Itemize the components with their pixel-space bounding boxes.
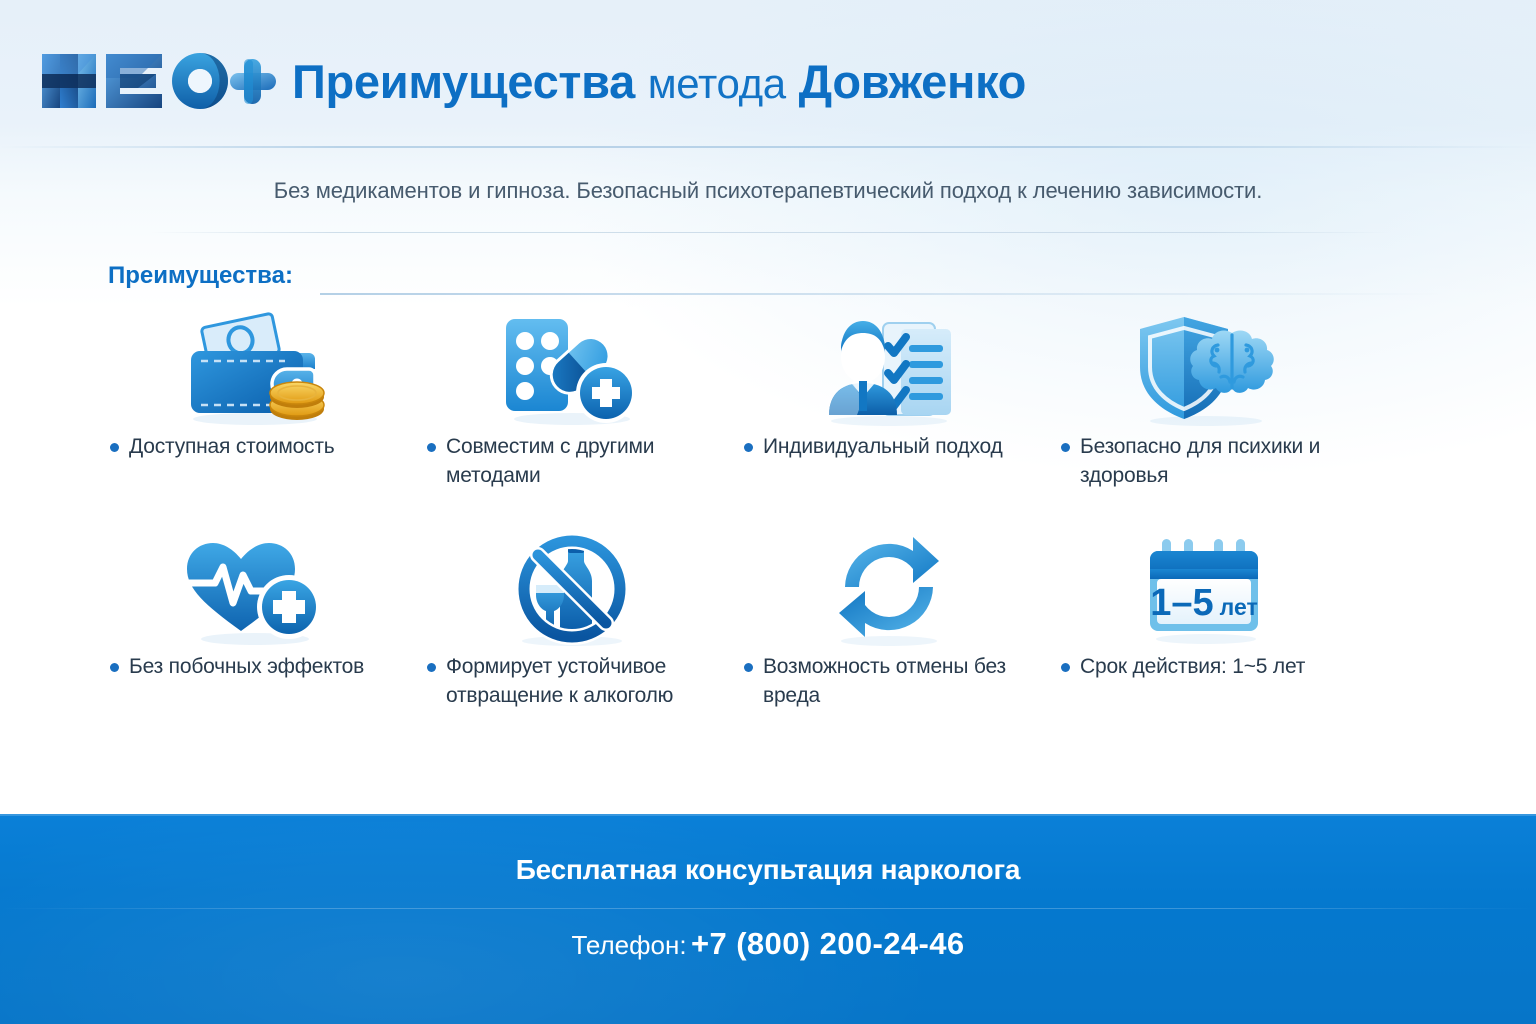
wallet-coins-icon	[96, 312, 413, 432]
benefit-label-row-3: Индивидуальный подход	[730, 432, 1047, 461]
header: Преимущества метода Довженко	[0, 0, 1536, 146]
section-title: Преимущества:	[108, 262, 293, 290]
benefit-item-6: Формирует устойчивое отвращение к алкого…	[413, 532, 730, 752]
benefit-label-row-1: Доступная стоимость	[96, 432, 413, 461]
pills-plus-icon	[413, 312, 730, 432]
benefit-label-row-8: Срок действия: 1~5 лет	[1047, 652, 1364, 681]
benefit-label-5: Без побочных эффектов	[129, 652, 364, 681]
benefit-item-2: Совместим с другими методами	[413, 312, 730, 532]
benefit-label-6: Формирует устойчивое отвращение к алкого…	[446, 652, 724, 710]
doctor-checklist-icon	[730, 312, 1047, 432]
section-rule	[320, 293, 1440, 295]
header-separator	[0, 146, 1536, 148]
benefit-label-2: Совместим с другими методами	[446, 432, 724, 490]
benefit-label-row-7: Возможность отмены без вреда	[730, 652, 1047, 710]
heart-pulse-plus-icon	[96, 532, 413, 652]
benefit-item-7: Возможность отмены без вреда	[730, 532, 1047, 752]
benefit-item-8: 1–5лет Срок действия: 1~5 лет	[1047, 532, 1364, 752]
bullet-dot	[427, 663, 436, 672]
benefit-item-5: Без побочных эффектов	[96, 532, 413, 752]
footer-cta-banner: Бесплатная консупьтация нарколога Телефо…	[0, 814, 1536, 1024]
page-title: Преимущества метода Довженко	[292, 58, 1026, 105]
bullet-dot	[1061, 663, 1070, 672]
footer-phone-row: Телефон: +7 (800) 200-24-46	[0, 926, 1536, 962]
bullet-dot	[427, 443, 436, 452]
shield-brain-icon	[1047, 312, 1364, 432]
no-alcohol-icon	[413, 532, 730, 652]
benefit-item-3: Индивидуальный подход	[730, 312, 1047, 532]
benefit-label-row-5: Без побочных эффектов	[96, 652, 413, 681]
reversible-arrows-icon	[730, 532, 1047, 652]
brand-logo	[38, 48, 278, 114]
benefit-label-4: Безопасно для психики и здоровья	[1080, 432, 1358, 490]
benefit-label-row-2: Совместим с другими методами	[413, 432, 730, 490]
bullet-dot	[744, 663, 753, 672]
phone-label: Телефон:	[571, 930, 686, 960]
benefit-label-7: Возможность отмены без вреда	[763, 652, 1041, 710]
bullet-dot	[1061, 443, 1070, 452]
calendar-years-icon: 1–5лет	[1047, 532, 1364, 652]
subtitle-separator	[150, 232, 1390, 233]
benefit-item-4: Безопасно для психики и здоровья	[1047, 312, 1364, 532]
benefit-label-1: Доступная стоимость	[129, 432, 335, 461]
bullet-dot	[110, 443, 119, 452]
footer-title: Бесплатная консупьтация нарколога	[0, 854, 1536, 886]
title-part-1: Преимущества	[292, 55, 635, 108]
subtitle: Без медикаментов и гипноза. Безопасный п…	[0, 178, 1536, 204]
benefit-label-row-4: Безопасно для психики и здоровья	[1047, 432, 1364, 490]
benefits-grid: Доступная стоимость	[96, 312, 1366, 752]
title-part-2: метода	[648, 60, 786, 107]
bullet-dot	[744, 443, 753, 452]
benefit-item-1: Доступная стоимость	[96, 312, 413, 532]
footer-divider	[0, 908, 1536, 909]
benefit-label-row-6: Формирует устойчивое отвращение к алкого…	[413, 652, 730, 710]
bullet-dot	[110, 663, 119, 672]
footer-top-edge	[0, 814, 1536, 816]
phone-number[interactable]: +7 (800) 200-24-46	[691, 926, 964, 961]
title-part-3: Довженко	[799, 55, 1026, 108]
benefit-label-3: Индивидуальный подход	[763, 432, 1003, 461]
benefit-label-8: Срок действия: 1~5 лет	[1080, 652, 1305, 681]
infographic-poster: Преимущества метода Довженко Без медикам…	[0, 0, 1536, 1024]
